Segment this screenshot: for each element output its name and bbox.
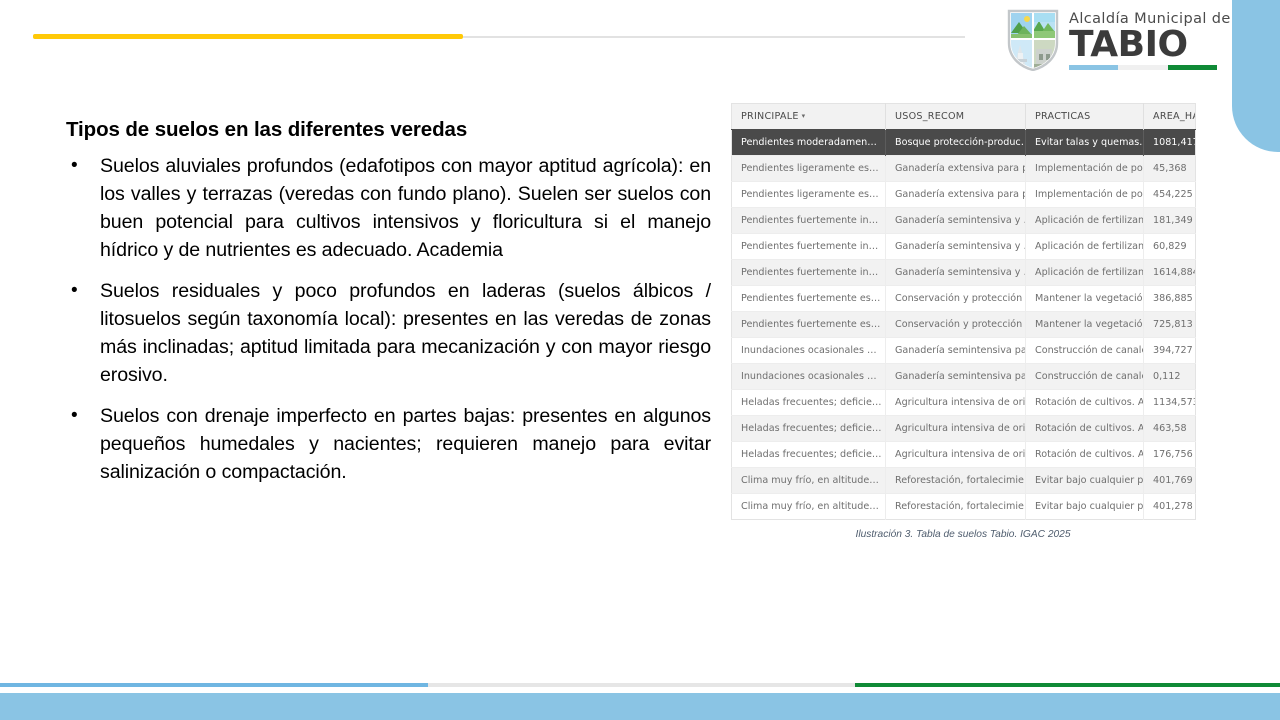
- cell-principale: Pendientes fuertemente in…: [732, 208, 886, 234]
- cell-practicas: Rotación de cultivos. Aplica…: [1026, 442, 1144, 468]
- cell-principale: Pendientes fuertemente es…: [732, 286, 886, 312]
- figure-caption: Ilustración 3. Tabla de suelos Tabio. IG…: [731, 529, 1195, 540]
- column-header-principale[interactable]: PRINCIPALE▾: [732, 104, 886, 130]
- cell-area-ha: 454,225: [1144, 182, 1196, 208]
- table-row[interactable]: Clima muy frío, en altitude…Reforestació…: [732, 494, 1196, 520]
- cell-practicas: Construcción de canales d…: [1026, 338, 1144, 364]
- table-row[interactable]: Inundaciones ocasionales …Ganadería semi…: [732, 364, 1196, 390]
- footer-bar-green: [855, 683, 1280, 687]
- bullet-marker-icon: •: [66, 277, 100, 305]
- cell-practicas: Evitar bajo cualquier punto…: [1026, 494, 1144, 520]
- cell-usos-recom: Conservación y protección …: [886, 312, 1026, 338]
- cell-practicas: Mantener la vegetación na…: [1026, 312, 1144, 338]
- cell-area-ha: 394,727: [1144, 338, 1196, 364]
- cell-usos-recom: Ganadería semintensiva y …: [886, 234, 1026, 260]
- cell-usos-recom: Ganadería semintensiva y …: [886, 260, 1026, 286]
- cell-practicas: Mantener la vegetación na…: [1026, 286, 1144, 312]
- cell-usos-recom: Reforestación, fortalecimie…: [886, 468, 1026, 494]
- column-header-usos-recom[interactable]: USOS_RECOM: [886, 104, 1026, 130]
- cell-principale: Clima muy frío, en altitude…: [732, 468, 886, 494]
- cell-area-ha: 176,756: [1144, 442, 1196, 468]
- table-header-row: PRINCIPALE▾ USOS_RECOM PRACTICAS AREA_HA: [732, 104, 1196, 130]
- logo-wordmark: Alcaldía Municipal de TABIO: [1069, 10, 1231, 71]
- table-row[interactable]: Pendientes fuertemente es…Conservación y…: [732, 312, 1196, 338]
- cell-usos-recom: Agricultura intensiva de ori…: [886, 416, 1026, 442]
- cell-principale: Pendientes moderadamen…: [732, 130, 886, 156]
- cell-practicas: Implementación de potrer…: [1026, 156, 1144, 182]
- footer-band: [0, 693, 1280, 720]
- cell-principale: Clima muy frío, en altitude…: [732, 494, 886, 520]
- column-header-label: PRACTICAS: [1035, 111, 1090, 122]
- header-divider: [33, 34, 965, 39]
- cell-practicas: Construcción de canales d…: [1026, 364, 1144, 390]
- column-header-label: USOS_RECOM: [895, 111, 964, 122]
- page-title: Tipos de suelos en las diferentes vereda…: [66, 118, 711, 142]
- cell-principale: Inundaciones ocasionales …: [732, 364, 886, 390]
- column-header-label: PRINCIPALE: [741, 111, 799, 122]
- sort-caret-icon[interactable]: ▾: [802, 112, 806, 120]
- table-row[interactable]: Pendientes fuertemente in…Ganadería semi…: [732, 260, 1196, 286]
- cell-usos-recom: Bosque protección-produc…: [886, 130, 1026, 156]
- soil-data-table[interactable]: PRINCIPALE▾ USOS_RECOM PRACTICAS AREA_HA…: [731, 103, 1196, 520]
- table-row[interactable]: Heladas frecuentes; deficie…Agricultura …: [732, 416, 1196, 442]
- cell-principale: Heladas frecuentes; deficie…: [732, 416, 886, 442]
- header-accent-bar: [33, 34, 463, 39]
- cell-practicas: Aplicación de fertilizantes, i…: [1026, 260, 1144, 286]
- bullet-marker-icon: •: [66, 402, 100, 430]
- slide-content: Tipos de suelos en las diferentes vereda…: [66, 118, 711, 499]
- cell-area-ha: 386,885: [1144, 286, 1196, 312]
- cell-principale: Pendientes fuertemente in…: [732, 260, 886, 286]
- list-item: • Suelos residuales y poco profundos en …: [66, 277, 711, 389]
- cell-practicas: Implementación de potrer…: [1026, 182, 1144, 208]
- cell-principale: Pendientes ligeramente es…: [732, 182, 886, 208]
- cell-area-ha: 181,349: [1144, 208, 1196, 234]
- cell-practicas: Evitar bajo cualquier punto…: [1026, 468, 1144, 494]
- cell-area-ha: 463,58: [1144, 416, 1196, 442]
- column-header-area-ha[interactable]: AREA_HA: [1144, 104, 1196, 130]
- cell-practicas: Rotación de cultivos. Aplica…: [1026, 416, 1144, 442]
- list-item: • Suelos aluviales profundos (edafotipos…: [66, 152, 711, 264]
- cell-principale: Pendientes fuertemente es…: [732, 312, 886, 338]
- cell-usos-recom: Conservación y protección …: [886, 286, 1026, 312]
- bullet-text: Suelos residuales y poco profundos en la…: [100, 277, 711, 389]
- table-row[interactable]: Pendientes ligeramente es…Ganadería exte…: [732, 182, 1196, 208]
- cell-area-ha: 1134,573: [1144, 390, 1196, 416]
- cell-usos-recom: Ganadería semintensiva pa…: [886, 364, 1026, 390]
- footer-tricolor-rule: [0, 683, 1280, 687]
- cell-practicas: Aplicación de fertilizantes, i…: [1026, 234, 1144, 260]
- table-row[interactable]: Pendientes moderadamen…Bosque protección…: [732, 130, 1196, 156]
- decorative-right-ribbon: [1232, 0, 1280, 152]
- footer-bar-gray: [428, 683, 855, 687]
- logo-line-2: TABIO: [1069, 28, 1231, 62]
- cell-usos-recom: Agricultura intensiva de ori…: [886, 442, 1026, 468]
- column-header-label: AREA_HA: [1153, 111, 1196, 122]
- logo-tricolor-bars: [1069, 65, 1217, 70]
- cell-area-ha: 1081,417: [1144, 130, 1196, 156]
- cell-practicas: Aplicación de fertilizantes, i…: [1026, 208, 1144, 234]
- bullet-marker-icon: •: [66, 152, 100, 180]
- header-thin-line: [463, 36, 965, 38]
- cell-area-ha: 401,278: [1144, 494, 1196, 520]
- table-row[interactable]: Pendientes fuertemente in…Ganadería semi…: [732, 234, 1196, 260]
- cell-usos-recom: Reforestación, fortalecimie…: [886, 494, 1026, 520]
- cell-principale: Inundaciones ocasionales …: [732, 338, 886, 364]
- table-row[interactable]: Heladas frecuentes; deficie…Agricultura …: [732, 390, 1196, 416]
- tabio-logo: Alcaldía Municipal de TABIO: [1006, 7, 1220, 73]
- cell-area-ha: 1614,884: [1144, 260, 1196, 286]
- cell-usos-recom: Ganadería extensiva para p…: [886, 156, 1026, 182]
- cell-usos-recom: Ganadería semintensiva y …: [886, 208, 1026, 234]
- footer-bar-blue: [0, 683, 428, 687]
- soil-table-figure: PRINCIPALE▾ USOS_RECOM PRACTICAS AREA_HA…: [731, 103, 1195, 540]
- table-row[interactable]: Inundaciones ocasionales …Ganadería semi…: [732, 338, 1196, 364]
- cell-area-ha: 0,112: [1144, 364, 1196, 390]
- list-item: • Suelos con drenaje imperfecto en parte…: [66, 402, 711, 486]
- cell-area-ha: 725,813: [1144, 312, 1196, 338]
- cell-principale: Pendientes fuertemente in…: [732, 234, 886, 260]
- cell-area-ha: 60,829: [1144, 234, 1196, 260]
- column-header-practicas[interactable]: PRACTICAS: [1026, 104, 1144, 130]
- cell-principale: Pendientes ligeramente es…: [732, 156, 886, 182]
- cell-usos-recom: Agricultura intensiva de ori…: [886, 390, 1026, 416]
- cell-usos-recom: Ganadería semintensiva pa…: [886, 338, 1026, 364]
- cell-area-ha: 45,368: [1144, 156, 1196, 182]
- table-row[interactable]: Pendientes ligeramente es…Ganadería exte…: [732, 156, 1196, 182]
- table-row[interactable]: Clima muy frío, en altitude…Reforestació…: [732, 468, 1196, 494]
- table-row[interactable]: Pendientes fuertemente es…Conservación y…: [732, 286, 1196, 312]
- table-row[interactable]: Pendientes fuertemente in…Ganadería semi…: [732, 208, 1196, 234]
- table-row[interactable]: Heladas frecuentes; deficie…Agricultura …: [732, 442, 1196, 468]
- cell-principale: Heladas frecuentes; deficie…: [732, 442, 886, 468]
- cell-principale: Heladas frecuentes; deficie…: [732, 390, 886, 416]
- bullet-text: Suelos con drenaje imperfecto en partes …: [100, 402, 711, 486]
- cell-practicas: Rotación de cultivos. Aplica…: [1026, 390, 1144, 416]
- bullet-text: Suelos aluviales profundos (edafotipos c…: [100, 152, 711, 264]
- cell-practicas: Evitar talas y quemas. Cont…: [1026, 130, 1144, 156]
- tabio-shield-crest-icon: [1006, 9, 1060, 71]
- cell-area-ha: 401,769: [1144, 468, 1196, 494]
- cell-usos-recom: Ganadería extensiva para p…: [886, 182, 1026, 208]
